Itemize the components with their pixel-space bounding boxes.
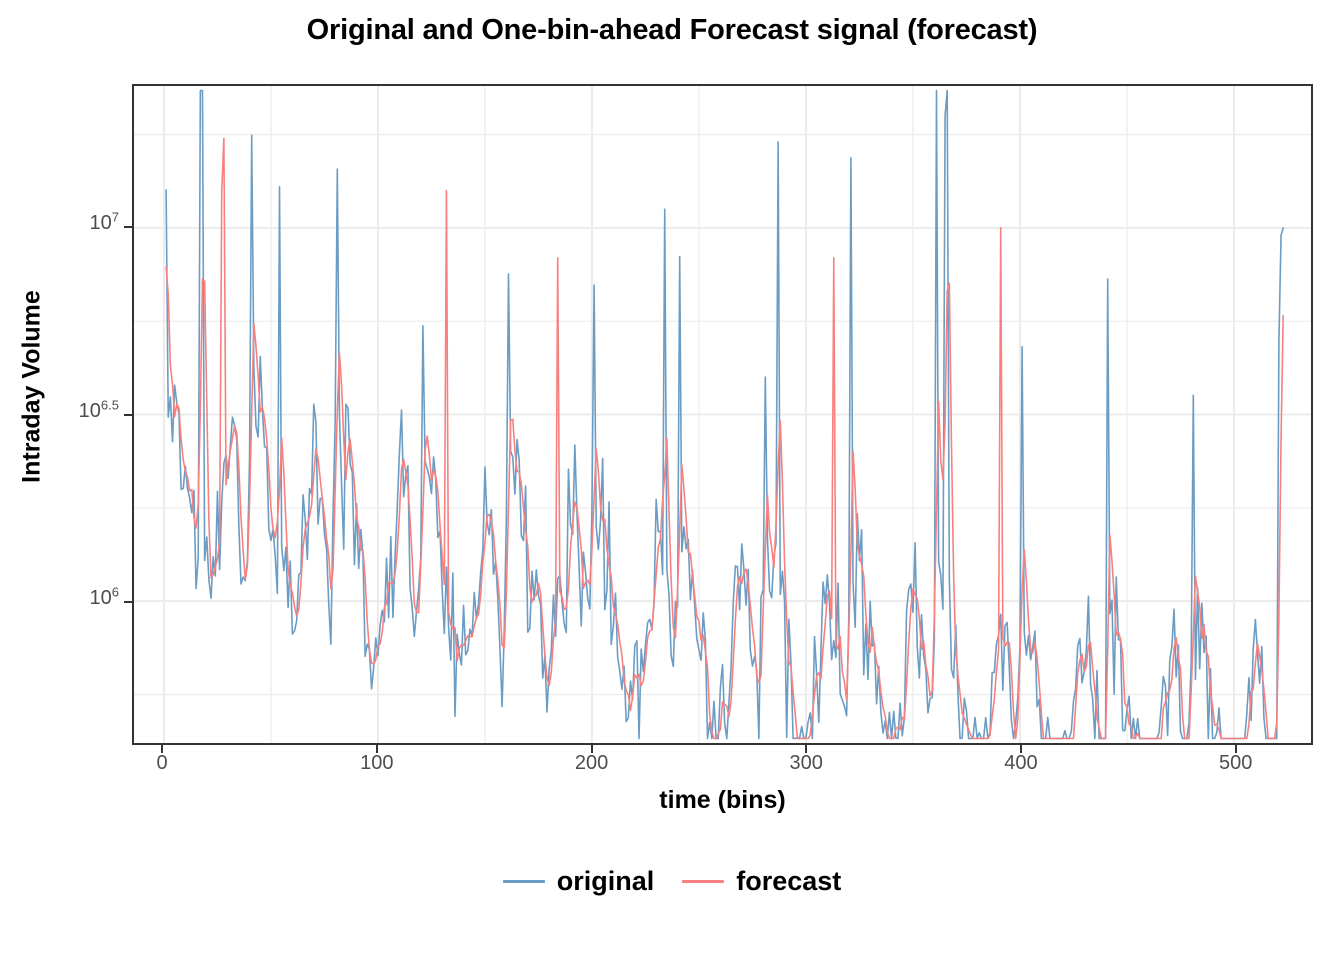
y-tick-label: 107 — [90, 212, 119, 235]
legend-item-original[interactable]: original — [503, 866, 655, 897]
x-tick-mark — [591, 745, 593, 753]
plot-panel — [132, 84, 1313, 745]
chart-figure: Original and One-bin-ahead Forecast sign… — [0, 0, 1344, 960]
y-tick-label: 106 — [90, 587, 119, 610]
x-tick-label: 0 — [132, 752, 192, 775]
legend-label-original: original — [557, 866, 655, 897]
x-tick-mark — [805, 745, 807, 753]
chart-title: Original and One-bin-ahead Forecast sign… — [0, 14, 1344, 47]
y-tick-mark — [124, 414, 132, 416]
legend-item-forecast[interactable]: forecast — [682, 866, 841, 897]
x-tick-label: 400 — [991, 752, 1051, 775]
chart-legend: original forecast — [0, 866, 1344, 897]
y-axis-title: Intraday Volume — [18, 237, 47, 537]
x-tick-label: 200 — [562, 752, 622, 775]
legend-key-original — [503, 880, 545, 883]
x-axis-title: time (bins) — [132, 786, 1313, 815]
x-tick-mark — [161, 745, 163, 753]
x-tick-label: 300 — [776, 752, 836, 775]
legend-key-forecast — [682, 880, 724, 883]
x-tick-mark — [1235, 745, 1237, 753]
y-tick-mark — [124, 601, 132, 603]
x-tick-label: 100 — [347, 752, 407, 775]
legend-label-forecast: forecast — [736, 866, 841, 897]
y-tick-label: 106.5 — [79, 400, 119, 423]
x-tick-mark — [1020, 745, 1022, 753]
plot-svg — [134, 86, 1311, 743]
y-tick-mark — [124, 226, 132, 228]
x-tick-label: 500 — [1206, 752, 1266, 775]
gridlines-major — [134, 86, 1311, 743]
x-tick-mark — [376, 745, 378, 753]
